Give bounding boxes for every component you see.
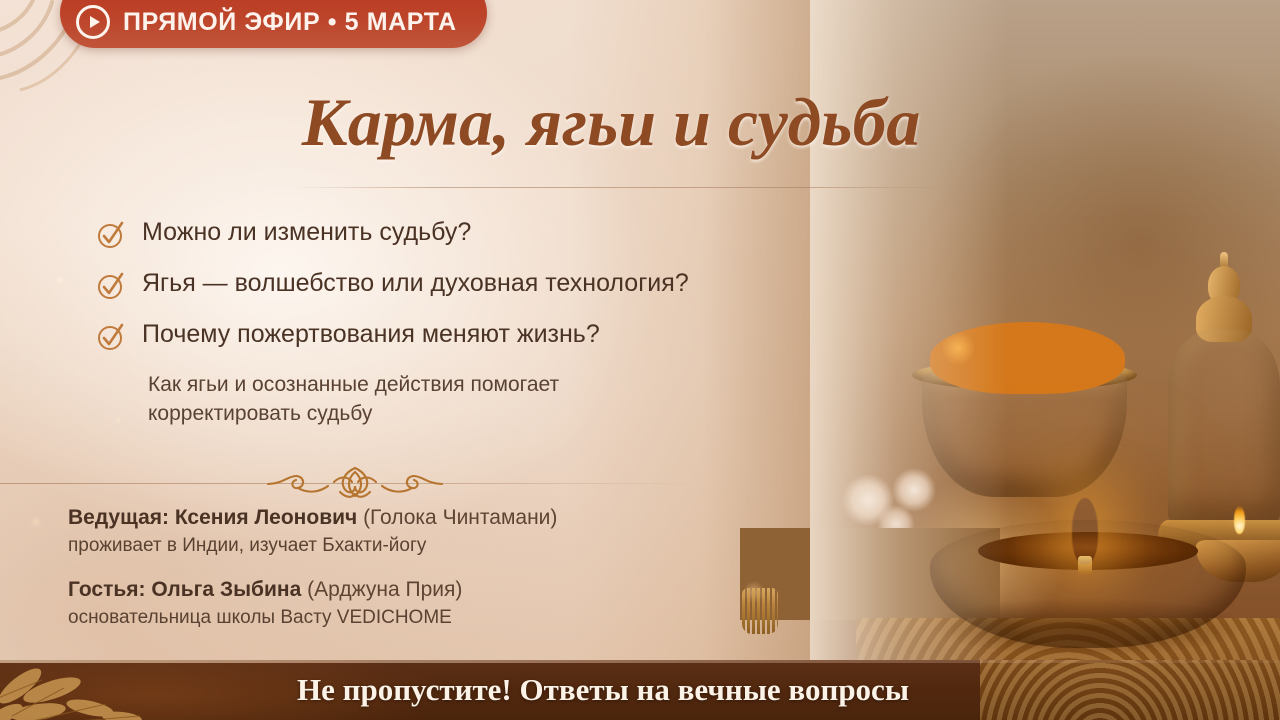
poster-canvas: ПРЯМОЙ ЭФИР • 5 МАРТА Карма, ягьи и судь… [0, 0, 1280, 720]
page-title: Карма, ягьи и судьба [0, 88, 1222, 156]
check-circle-icon [96, 271, 126, 301]
bullet-list: Можно ли изменить судьбу? Ягья — волшебс… [96, 218, 856, 429]
guest-line: Гостья: Ольга Зыбина (Арджуна Прия) [68, 576, 708, 603]
list-item-label: Можно ли изменить судьбу? [142, 218, 471, 247]
guest-description: основательница школы Васту VEDICHOME [68, 605, 708, 631]
beads-tassel-icon [742, 588, 778, 634]
list-item-label: Ягья — волшебство или духовная технологи… [142, 269, 689, 298]
host-role-label: Ведущая: [68, 506, 169, 529]
host-description: проживает в Индии, изучает Бхакти-йогу [68, 533, 708, 559]
people-block: Ведущая: Ксения Леонович (Голока Чинтама… [68, 504, 708, 648]
list-item-label: Почему пожертвования меняют жизнь? [142, 320, 600, 349]
list-item: Почему пожертвования меняют жизнь? [96, 320, 856, 352]
check-circle-icon [96, 322, 126, 352]
title-underline [292, 187, 952, 188]
list-item: Ягья — волшебство или духовная технологи… [96, 269, 856, 301]
guest-alias: (Арджуна Прия) [307, 578, 462, 601]
guest-name: Ольга Зыбина [151, 578, 301, 601]
host-name: Ксения Леонович [175, 506, 357, 529]
guest-entry: Гостья: Ольга Зыбина (Арджуна Прия) осно… [68, 576, 708, 631]
check-circle-icon [96, 220, 126, 250]
host-alias: (Голока Чинтамани) [363, 506, 557, 529]
live-badge-label: ПРЯМОЙ ЭФИР • 5 МАРТА [123, 8, 457, 37]
footer-text: Не пропустите! Ответы на вечные вопросы [0, 660, 1206, 720]
host-line: Ведущая: Ксения Леонович (Голока Чинтама… [68, 504, 708, 531]
divider [0, 462, 700, 506]
note-text: Как ягьи и осознанные действия помогает … [148, 371, 708, 429]
footer-bar: Не пропустите! Ответы на вечные вопросы [0, 660, 1280, 720]
host-entry: Ведущая: Ксения Леонович (Голока Чинтама… [68, 504, 708, 559]
list-item: Можно ли изменить судьбу? [96, 218, 856, 250]
guest-role-label: Гостья: [68, 578, 146, 601]
play-icon [76, 5, 110, 39]
live-broadcast-badge[interactable]: ПРЯМОЙ ЭФИР • 5 МАРТА [60, 0, 487, 48]
ornament-flourish-icon [262, 462, 448, 506]
